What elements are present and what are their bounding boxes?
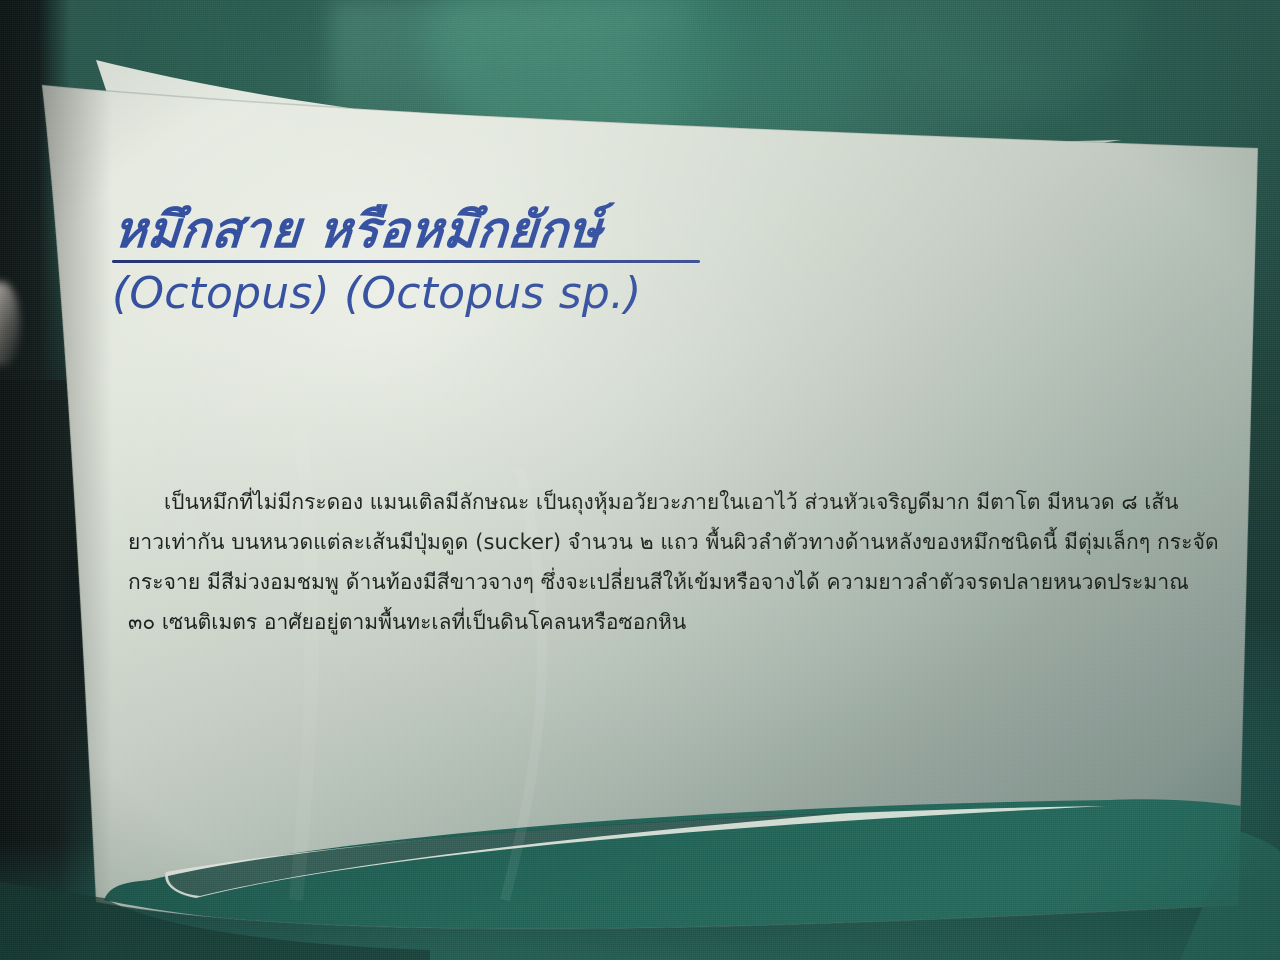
title-block: หมึกสาย หรือหมึกยักษ์ (Octopus) (Octopus…: [112, 205, 872, 318]
description-line: เป็นหมึกที่ไม่มีกระดอง แมนเติลมีลักษณะ เ…: [128, 482, 1180, 522]
description-line: ๓๐ เซนติเมตร อาศัยอยู่ตามพื้นทะเลที่เป็น…: [128, 602, 1180, 642]
poster-paper-body: [0, 0, 1280, 960]
description-line: ยาวเท่ากัน บนหนวดแต่ละเส้นมีปุ่มดูด (suc…: [128, 522, 1180, 562]
poster-artwork: [0, 0, 1280, 960]
screenshot-root: หมึกสาย หรือหมึกยักษ์ (Octopus) (Octopus…: [0, 0, 1280, 960]
description-paragraph: เป็นหมึกที่ไม่มีกระดอง แมนเติลมีลักษณะ เ…: [128, 482, 1180, 642]
description-line: กระจาย มีสีม่วงอมชมพู ด้านท้องมีสีขาวจาง…: [128, 562, 1180, 602]
page-title-thai: หมึกสาย หรือหมึกยักษ์: [112, 205, 876, 256]
scientific-name: (Octopus) (Octopus sp.): [112, 270, 872, 318]
title-underline: [112, 260, 700, 263]
poster-sheet: [0, 0, 1280, 960]
